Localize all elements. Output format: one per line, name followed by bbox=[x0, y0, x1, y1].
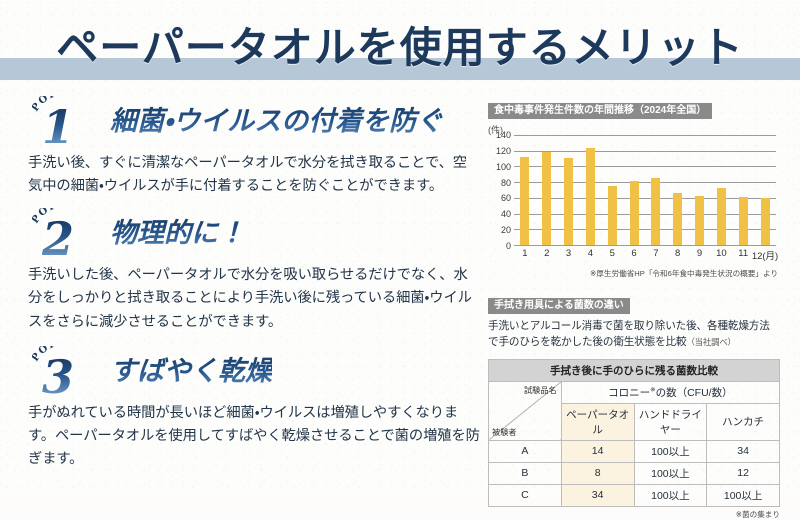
point-1-badge: POINT 1 bbox=[28, 96, 106, 150]
point-3-title: すばやく乾燥 bbox=[110, 350, 272, 394]
chart-bar bbox=[542, 152, 551, 245]
point-2-number: 2 bbox=[42, 216, 74, 262]
chart-bar-column: 12(月) bbox=[754, 135, 776, 245]
table-column-header: ハンカチ bbox=[707, 403, 780, 440]
point-2-head: POINT 2 物理的に！ bbox=[28, 208, 480, 262]
table-corner-top-label: 試験品名 bbox=[524, 384, 557, 396]
table-footnote: ※菌の集まり bbox=[488, 509, 780, 520]
chart-x-tick-label: 7 bbox=[653, 248, 658, 259]
point-1-body: 手洗い後、すぐに清潔なペーパータオルで水分を拭き取ることで、空気中の細菌・ウイル… bbox=[28, 152, 480, 198]
points-column: POINT 1 細菌・ウイルスの付着を防ぐ 手洗い後、すぐに清潔なペーパータオル… bbox=[28, 96, 480, 488]
chart-y-tick-label: 140 bbox=[496, 130, 511, 140]
chart-bar-column: 8 bbox=[667, 135, 689, 245]
point-3-body: 手がぬれている時間が長いほど細菌・ウイルスは増殖しやすくなります。ペーパータオル… bbox=[28, 402, 480, 471]
table-row-subject: C bbox=[489, 484, 562, 506]
group-header-text: コロニー bbox=[608, 387, 650, 399]
chart-x-tick-label: 8 bbox=[675, 248, 680, 259]
table-row: A14100以上34 bbox=[489, 440, 780, 462]
point-1-number: 1 bbox=[42, 104, 74, 150]
chart-bar bbox=[630, 181, 639, 245]
table-row: C34100以上100以上 bbox=[489, 484, 780, 506]
lower-panel-title: 手拭き用具による菌数の違い bbox=[488, 298, 630, 314]
table-body: A14100以上34B8100以上12C34100以上100以上 bbox=[489, 440, 780, 506]
table-column-header: ペーパータオル bbox=[561, 403, 634, 440]
chart-x-tick-label: 4 bbox=[588, 248, 593, 259]
point-3-badge: POINT 3 bbox=[28, 346, 106, 400]
point-2-badge: POINT 2 bbox=[28, 208, 106, 262]
chart-bar bbox=[564, 158, 573, 245]
chart-bar bbox=[695, 196, 704, 246]
point-block-3: POINT 3 すばやく乾燥 手がぬれている時間が長いほど細菌・ウイルスは増殖し… bbox=[28, 346, 480, 471]
chart-bar bbox=[717, 188, 726, 245]
table-cell: 100以上 bbox=[634, 440, 707, 462]
table-corner-cell: 試験品名 被験者 bbox=[489, 381, 562, 440]
chart-bar-column: 11 bbox=[732, 135, 754, 245]
chart-bars: 123456789101112(月) bbox=[514, 135, 776, 245]
chart-bar bbox=[761, 198, 770, 245]
chart-bar-column: 9 bbox=[689, 135, 711, 245]
point-2-title: 物理的に！ bbox=[110, 212, 245, 256]
chart-bar-column: 5 bbox=[601, 135, 623, 245]
table-caption-row: 手拭き後に手のひらに残る菌数比較 bbox=[489, 359, 780, 381]
chart-source-note: ※厚生労働省HP「令和6年食中毒発生状況の概要」より bbox=[590, 268, 778, 279]
bacteria-comparison-panel: 手拭き用具による菌数の違い 手洗いとアルコール消毒で菌を取り除いた後、各種乾燥方… bbox=[488, 295, 780, 520]
data-column: 食中毒事件発生件数の年間推移（2024年全国） (件) 020406080100… bbox=[488, 100, 780, 520]
chart-bar-column: 3 bbox=[558, 135, 580, 245]
chart-x-tick-label: 2 bbox=[544, 248, 549, 259]
table-row-subject: B bbox=[489, 462, 562, 484]
chart-x-tick-label: 6 bbox=[631, 248, 636, 259]
page-title: ペーパータオルを使用するメリット bbox=[0, 14, 800, 75]
point-3-head: POINT 3 すばやく乾燥 bbox=[28, 346, 480, 400]
point-1-title: 細菌・ウイルスの付着を防ぐ bbox=[110, 100, 443, 144]
chart-y-tick-label: 80 bbox=[501, 178, 511, 188]
chart-gridline: 0 bbox=[514, 245, 776, 246]
point-3-number: 3 bbox=[42, 354, 74, 400]
chart-y-tick-label: 20 bbox=[501, 225, 511, 235]
chart-y-tick-label: 60 bbox=[501, 193, 511, 203]
table-corner-bottom-label: 被験者 bbox=[492, 426, 517, 438]
chart-x-tick-label: 3 bbox=[566, 248, 571, 259]
chart-bar-column: 4 bbox=[579, 135, 601, 245]
chart-x-tick-label: 1 bbox=[522, 248, 527, 259]
chart-bar bbox=[586, 148, 595, 245]
table-group-header-row: 試験品名 被験者 コロニー※の数（CFU/数） bbox=[489, 381, 780, 403]
chart-bar bbox=[520, 157, 529, 245]
chart-x-tick-label: 9 bbox=[697, 248, 702, 259]
chart-bar bbox=[739, 197, 748, 245]
chart-bar-column: 2 bbox=[536, 135, 558, 245]
group-header-tail: の数（CFU/数） bbox=[656, 387, 733, 399]
table-cell: 100以上 bbox=[707, 484, 780, 506]
chart-bar-column: 6 bbox=[623, 135, 645, 245]
point-block-1: POINT 1 細菌・ウイルスの付着を防ぐ 手洗い後、すぐに清潔なペーパータオル… bbox=[28, 96, 480, 198]
chart-bar-column: 1 bbox=[514, 135, 536, 245]
table-row-subject: A bbox=[489, 440, 562, 462]
point-block-2: POINT 2 物理的に！ 手洗いした後、ペーパータオルで水分を吸い取らせるだけ… bbox=[28, 208, 480, 333]
chart-y-tick-label: 40 bbox=[501, 209, 511, 219]
table-column-header: ハンドドライヤー bbox=[634, 403, 707, 440]
point-1-head: POINT 1 細菌・ウイルスの付着を防ぐ bbox=[28, 96, 480, 150]
chart-y-tick-label: 100 bbox=[496, 162, 511, 172]
chart-x-tick-label: 12(月) bbox=[752, 248, 778, 262]
chart-plot-area: 020406080100120140 123456789101112(月) bbox=[514, 135, 776, 245]
chart-bar bbox=[673, 193, 682, 245]
lower-panel-description: 手洗いとアルコール消毒で菌を取り除いた後、各種乾燥方法で手のひらを乾かした後の衛… bbox=[488, 319, 780, 351]
chart-y-tick-label: 0 bbox=[506, 241, 511, 251]
chart-panel-title: 食中毒事件発生件数の年間推移（2024年全国） bbox=[488, 103, 712, 119]
food-poisoning-bar-chart: (件) 020406080100120140 123456789101112(月… bbox=[488, 125, 780, 265]
table-cell: 14 bbox=[561, 440, 634, 462]
table-caption: 手拭き後に手のひらに残る菌数比較 bbox=[489, 359, 780, 381]
table-group-header: コロニー※の数（CFU/数） bbox=[561, 381, 779, 403]
bacteria-count-table: 手拭き後に手のひらに残る菌数比較 試験品名 被験者 コロニー※の数（CFU/数）… bbox=[488, 359, 780, 507]
chart-x-tick-label: 10 bbox=[716, 248, 727, 259]
chart-bar-column: 7 bbox=[645, 135, 667, 245]
point-2-body: 手洗いした後、ペーパータオルで水分を吸い取らせるだけでなく、水分をしっかりと拭き… bbox=[28, 264, 480, 333]
chart-x-tick-label: 11 bbox=[738, 248, 748, 259]
chart-panel: 食中毒事件発生件数の年間推移（2024年全国） (件) 020406080100… bbox=[488, 100, 780, 265]
table-cell: 12 bbox=[707, 462, 780, 484]
table-cell: 100以上 bbox=[634, 484, 707, 506]
page-header: ペーパータオルを使用するメリット bbox=[0, 0, 800, 96]
chart-y-tick-label: 120 bbox=[496, 146, 511, 156]
table-row: B8100以上12 bbox=[489, 462, 780, 484]
chart-bar-column: 10 bbox=[710, 135, 732, 245]
chart-bar bbox=[651, 178, 660, 245]
table-cell: 8 bbox=[561, 462, 634, 484]
chart-bar bbox=[608, 186, 617, 245]
table-cell: 34 bbox=[561, 484, 634, 506]
lower-desc-note: （当社調べ） bbox=[686, 337, 735, 347]
table-cell: 100以上 bbox=[634, 462, 707, 484]
chart-x-tick-label: 5 bbox=[610, 248, 615, 259]
table-cell: 34 bbox=[707, 440, 780, 462]
